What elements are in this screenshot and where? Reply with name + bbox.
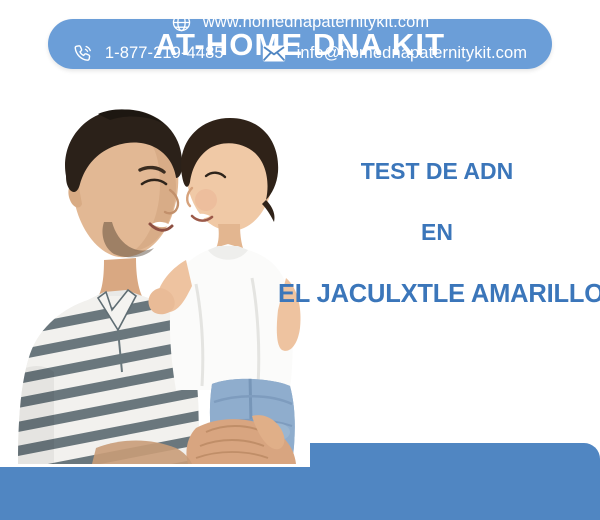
poster-canvas: AT-HOME DNA KIT TEST DE ADN EN EL JACULX… [0, 0, 600, 520]
phone-item[interactable]: 1-877-219-4485 [73, 43, 224, 64]
email-item[interactable]: info@homednapaternitykit.com [262, 44, 528, 63]
footer-contact-row: 1-877-219-4485 info@homednapaternitykit.… [0, 43, 600, 64]
website-item[interactable]: www.homednapaternitykit.com [171, 12, 429, 33]
headline-line-1: TEST DE ADN [278, 160, 596, 183]
headline-line-3: EL JACULXTLE AMARILLO [278, 282, 596, 308]
family-photo [0, 72, 310, 467]
globe-icon [171, 12, 192, 33]
footer-website-row: www.homednapaternitykit.com [0, 12, 600, 33]
email-label: info@homednapaternitykit.com [297, 44, 528, 63]
phone-label: 1-877-219-4485 [105, 44, 224, 63]
headline-block: TEST DE ADN EN EL JACULXTLE AMARILLO [278, 160, 596, 308]
website-label: www.homednapaternitykit.com [203, 13, 429, 32]
headline-line-2: EN [278, 221, 596, 244]
envelope-icon [262, 44, 286, 63]
phone-icon [73, 43, 94, 64]
